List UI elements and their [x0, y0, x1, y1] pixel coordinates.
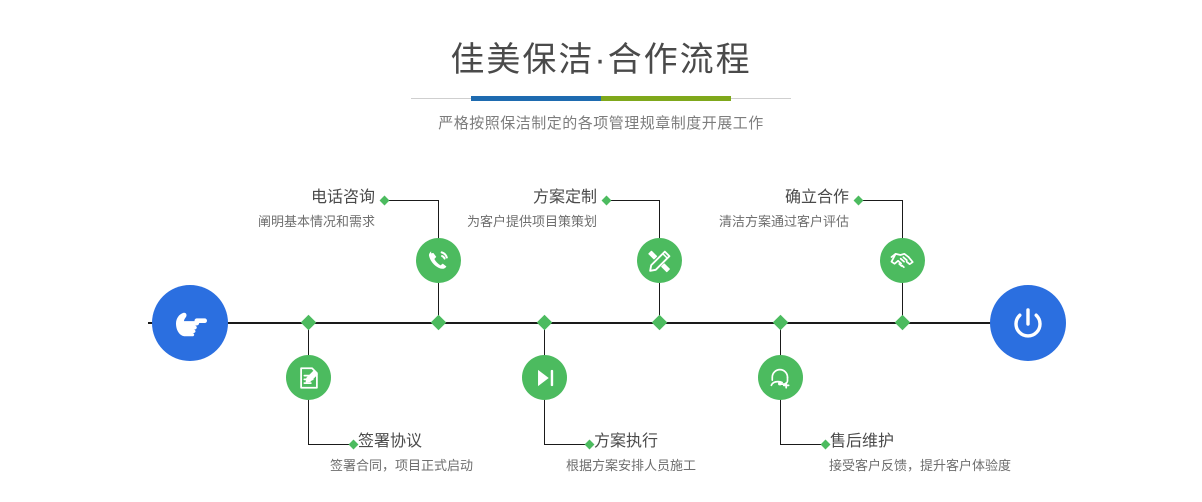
step-desc-5: 清洁方案通过客户评估	[645, 212, 849, 232]
step-title-1: 电话咨询	[175, 188, 375, 208]
page-title: 佳美保洁·合作流程	[0, 0, 1202, 82]
step-icon-1	[416, 238, 461, 283]
phone-ringing-icon	[425, 247, 452, 274]
step-label-5: 确立合作 清洁方案通过客户评估	[645, 188, 849, 232]
step-icon-4	[522, 355, 567, 400]
step-label-2: 签署协议 签署合同，项目正式启动	[358, 432, 598, 476]
connector-horizontal-5	[859, 200, 903, 201]
step-title-6: 售后维护	[830, 432, 1090, 452]
headset-plus-icon	[768, 365, 794, 391]
power-icon	[1006, 301, 1050, 345]
connector-horizontal-2	[308, 444, 353, 445]
play-execute-icon	[532, 365, 558, 391]
step-icon-5	[880, 238, 925, 283]
label-marker-2	[349, 440, 359, 450]
page-subtitle: 严格按照保洁制定的各项管理规章制度开展工作	[0, 101, 1202, 133]
step-label-1: 电话咨询 阐明基本情况和需求	[175, 188, 375, 232]
step-desc-6: 接受客户反馈，提升客户体验度	[829, 456, 1090, 476]
timeline-end-node	[990, 285, 1066, 361]
step-icon-2	[286, 355, 331, 400]
document-pen-icon	[296, 365, 322, 391]
axis-marker-1	[431, 315, 447, 331]
label-marker-1	[380, 196, 390, 206]
step-desc-1: 阐明基本情况和需求	[175, 212, 375, 232]
handshake-icon	[889, 247, 916, 274]
axis-marker-4	[537, 315, 553, 331]
axis-marker-5	[895, 315, 911, 331]
divider-segment-green	[601, 96, 731, 101]
step-label-4: 方案执行 根据方案安排人员施工	[594, 432, 834, 476]
step-icon-6	[758, 355, 803, 400]
timeline-start-node	[152, 285, 228, 361]
step-desc-3: 为客户提供项目策策划	[400, 212, 597, 232]
title-divider	[411, 96, 791, 101]
step-desc-2: 签署合同，项目正式启动	[330, 456, 598, 476]
step-title-2: 签署协议	[358, 432, 598, 452]
process-flow-infographic: 佳美保洁·合作流程 严格按照保洁制定的各项管理规章制度开展工作	[0, 0, 1202, 502]
step-title-5: 确立合作	[645, 188, 849, 208]
label-marker-3	[602, 196, 612, 206]
axis-marker-6	[773, 315, 789, 331]
step-title-3: 方案定制	[400, 188, 597, 208]
header: 佳美保洁·合作流程 严格按照保洁制定的各项管理规章制度开展工作	[0, 0, 1202, 133]
step-icon-3	[637, 238, 682, 283]
label-marker-5	[854, 196, 864, 206]
pointing-hand-icon	[168, 301, 212, 345]
step-label-6: 售后维护 接受客户反馈，提升客户体验度	[830, 432, 1090, 476]
pencil-ruler-icon	[647, 248, 673, 274]
axis-marker-2	[301, 315, 317, 331]
timeline-axis	[148, 322, 1054, 324]
divider-segment-blue	[471, 96, 601, 101]
step-label-3: 方案定制 为客户提供项目策策划	[400, 188, 597, 232]
axis-marker-3	[652, 315, 668, 331]
step-title-4: 方案执行	[594, 432, 834, 452]
step-desc-4: 根据方案安排人员施工	[566, 456, 834, 476]
